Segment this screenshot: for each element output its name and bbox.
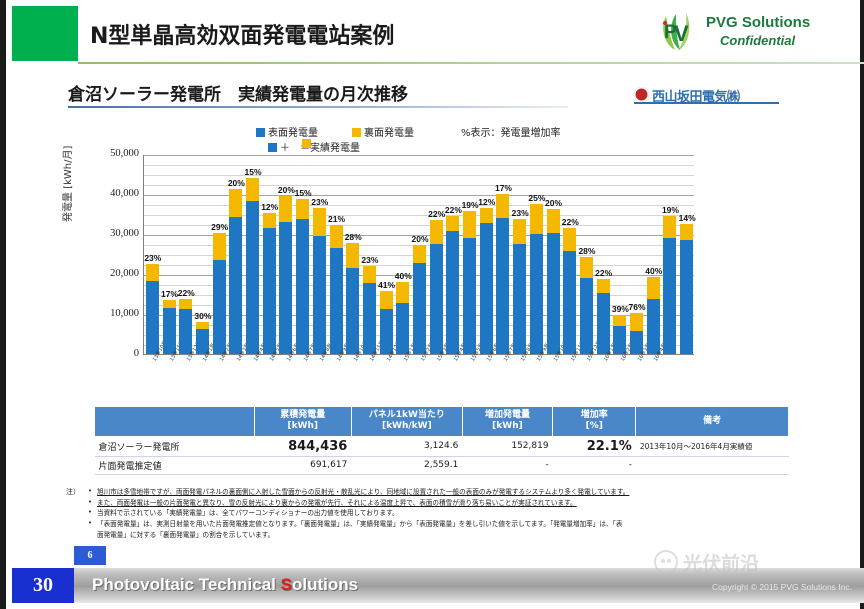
table-header-cell: 増加率[%] <box>553 407 636 437</box>
bar-segment-surface <box>563 251 576 354</box>
slide-canvas: N型単晶高効双面発電電站案例 P V PVG Solutions Confide… <box>0 0 864 609</box>
bar-segment-rear <box>279 196 292 222</box>
footer-title: Photovoltaic Technical Solutions <box>92 575 358 595</box>
table-header-line: 増加率 <box>555 410 633 421</box>
chart-plot-area: 23%13年10月17%13年11月22%13年12月30%14年1月29%14… <box>143 155 694 355</box>
table-header-cell: 備考 <box>636 407 789 437</box>
header-divider <box>78 62 864 64</box>
chart-bar: 15% <box>246 154 259 354</box>
chart-heading-divider <box>68 106 568 108</box>
page-title: N型単晶高効双面発電電站案例 <box>90 18 394 50</box>
bar-segment-surface <box>413 263 426 354</box>
bar-segment-rear <box>413 245 426 263</box>
chart-heading: 倉沼ソーラー発電所 実績発電量の月次推移 <box>68 80 408 105</box>
footnotes: 注） 旭川市は多雪地帯ですが、両面発電パネルの裏面側に入射した雪面からの反射光・… <box>66 487 826 540</box>
bar-segment-surface <box>430 244 443 354</box>
footnote-item: 面発電量」に対する「裏面発電量」の割合を示しています。 <box>88 530 826 541</box>
footnotes-label: 注） <box>66 487 80 498</box>
legend-label-surface: 表面発電量 <box>268 128 318 139</box>
monthly-generation-chart: 発電量 [kWh/月] 50,00040,00030,00020,00010,0… <box>61 150 711 395</box>
legend-pct-note: %表示：発電量増加率 <box>461 124 561 139</box>
chart-bar: 19% <box>663 154 676 354</box>
partner-name: 西山坂田電気㈱ <box>652 86 740 105</box>
bar-segment-rear <box>146 264 159 281</box>
table-header-cell: 累積発電量[kWh] <box>254 407 351 437</box>
table-cell: 片面発電推定値 <box>95 456 255 474</box>
y-axis-tick-label: 10,000 <box>87 308 139 319</box>
table-cell: 691,617 <box>254 456 351 474</box>
pvg-logo: P V PVG Solutions Confidential <box>656 8 846 60</box>
chart-bar: 76% <box>630 154 643 354</box>
chart-bar: 14% <box>680 154 693 354</box>
footer-title-prefix: Photovoltaic Technical <box>92 575 281 594</box>
bar-segment-rear <box>446 216 459 231</box>
bar-segment-surface <box>463 238 476 354</box>
bar-segment-surface <box>330 248 343 354</box>
bar-segment-rear <box>530 204 543 234</box>
table-row: 片面発電推定値691,6172,559.1-- <box>95 456 789 474</box>
legend-swatch-yellow2-wrap <box>302 139 314 150</box>
footer-title-suffix: olutions <box>292 575 358 594</box>
chart-bar: 20% <box>413 154 426 354</box>
chart-bar: 40% <box>647 154 660 354</box>
bar-segment-surface <box>597 293 610 354</box>
bar-segment-rear <box>680 224 693 240</box>
table-header-row: 累積発電量[kWh]パネル1kW当たり[kWh/kW]増加発電量[kWh]増加率… <box>95 407 789 437</box>
y-axis-title: 発電量 [kWh/月] <box>59 146 74 222</box>
table-cell: 2013年10月～2016年4月実績値 <box>636 436 789 456</box>
svg-text:V: V <box>674 21 689 46</box>
table-cell: 22.1% <box>553 436 636 456</box>
chart-bar: 39% <box>613 154 626 354</box>
table-header-cell: 増加発電量[kWh] <box>462 407 552 437</box>
bar-segment-surface <box>680 240 693 354</box>
bar-segment-surface <box>513 244 526 354</box>
bar-segment-rear <box>163 300 176 308</box>
bar-segment-rear <box>196 322 209 330</box>
bar-segment-surface <box>396 303 409 354</box>
bar-segment-rear <box>513 219 526 244</box>
footnote-item: 「表面発電量」は、実測日射量を用いた片面発電推定値となります。「裏面発電量」は、… <box>88 519 826 530</box>
bar-segment-surface <box>663 238 676 354</box>
bar-segment-surface <box>496 218 509 354</box>
chart-bar: 23% <box>146 154 159 354</box>
legend-entry-surface: 表面発電量 <box>256 124 318 139</box>
chart-bar: 20% <box>547 154 560 354</box>
bar-segment-rear <box>480 208 493 224</box>
table-body: 倉沼ソーラー発電所844,4363,124.6152,81922.1%2013年… <box>95 436 789 474</box>
header-green-block <box>12 6 78 61</box>
y-axis-tick-label: 40,000 <box>87 188 139 199</box>
table-header-line: パネル1kW当たり <box>354 410 460 421</box>
summary-table: 累積発電量[kWh]パネル1kW当たり[kWh/kW]増加発電量[kWh]増加率… <box>94 406 789 475</box>
chart-bar: 40% <box>396 154 409 354</box>
bar-segment-rear <box>613 315 626 326</box>
chart-bar: 30% <box>196 154 209 354</box>
bar-segment-surface <box>296 219 309 354</box>
bar-segment-surface <box>547 233 560 354</box>
bar-segment-rear <box>463 211 476 238</box>
legend-swatch-blue-icon <box>256 128 265 137</box>
chart-bar: 20% <box>229 154 242 354</box>
table-header-line: [kWh/kW] <box>354 421 460 432</box>
chart-bar: 25% <box>530 154 543 354</box>
bar-segment-rear <box>647 277 660 299</box>
footnote-item: また、両面発電は一般の片面発電と異なり、雪の反射光により裏からの発電が先行、それ… <box>88 498 826 509</box>
table-cell: 3,124.6 <box>351 436 462 456</box>
slide-number: 30 <box>12 568 74 603</box>
bar-segment-rear <box>213 233 226 260</box>
bar-segment-surface <box>246 201 259 354</box>
bar-segment-surface <box>263 228 276 354</box>
table-header-line: [%] <box>555 421 633 432</box>
y-axis-tick-label: 50,000 <box>87 148 139 159</box>
chart-bar: 28% <box>580 154 593 354</box>
table-header-line: 増加発電量 <box>465 410 550 421</box>
y-axis-ticks: 50,00040,00030,00020,00010,0000 <box>83 150 139 360</box>
chart-bar: 23% <box>513 154 526 354</box>
chart-bar: 15% <box>296 154 309 354</box>
table-cell: 2,559.1 <box>351 456 462 474</box>
chart-bar: 17% <box>496 154 509 354</box>
confidential-label: Confidential <box>720 33 795 48</box>
watermark-text: 光伏前沿 <box>683 549 759 576</box>
watermark: 光伏前沿 <box>654 544 844 580</box>
bar-segment-surface <box>279 222 292 354</box>
chart-bar: 20% <box>279 154 292 354</box>
legend-swatch-yellow-icon <box>352 128 361 137</box>
page-badge: 6 <box>74 546 106 565</box>
chart-bar: 41% <box>380 154 393 354</box>
bar-segment-surface <box>346 268 359 354</box>
pvg-leaf-icon: P V <box>656 10 702 54</box>
bar-segment-surface <box>229 217 242 354</box>
legend-swatch-yellow2-icon <box>302 139 311 148</box>
legend-entry-rear: 裏面発電量 <box>352 124 414 139</box>
bar-segment-surface <box>530 234 543 354</box>
footer-title-accent: S <box>281 575 292 594</box>
bar-segment-surface <box>580 278 593 354</box>
bar-segment-rear <box>179 299 192 309</box>
bar-segment-surface <box>363 283 376 354</box>
table-cell: 倉沼ソーラー発電所 <box>95 436 255 456</box>
table-header-line: [kWh] <box>465 421 550 432</box>
footnote-item: 当資料で示されている「実績発電量」は、全てパワーコンディショナーの出力値を使用し… <box>88 508 826 519</box>
footnote-item: 旭川市は多雪地帯ですが、両面発電パネルの裏面側に入射した雪面からの反射光・散乱光… <box>88 487 826 498</box>
bar-segment-rear <box>430 220 443 244</box>
bar-segment-surface <box>647 299 660 354</box>
bar-segment-rear <box>263 213 276 228</box>
bar-segment-surface <box>313 236 326 354</box>
legend-label-rear: 裏面発電量 <box>364 128 414 139</box>
chart-bar: 22% <box>597 154 610 354</box>
bar-segment-rear <box>597 279 610 292</box>
table-row: 倉沼ソーラー発電所844,4363,124.6152,81922.1%2013年… <box>95 436 789 456</box>
bar-segment-rear <box>630 313 643 331</box>
smiley-face-icon <box>654 550 678 574</box>
footnotes-list: 旭川市は多雪地帯ですが、両面発電パネルの裏面側に入射した雪面からの反射光・散乱光… <box>88 487 826 540</box>
table-cell <box>636 456 789 474</box>
bar-percent-label: 14% <box>674 213 700 223</box>
table-header-cell <box>95 407 255 437</box>
chart-bar: 23% <box>313 154 326 354</box>
chart-bar: 23% <box>363 154 376 354</box>
y-axis-tick-label: 0 <box>87 348 139 359</box>
chart-bar: 22% <box>446 154 459 354</box>
table-header-line: [kWh] <box>257 421 349 432</box>
table-cell: - <box>462 456 552 474</box>
pvg-logo-text: PVG Solutions <box>706 14 810 31</box>
table-cell: 152,819 <box>462 436 552 456</box>
table-header-line: 備考 <box>638 416 786 427</box>
copyright-text: Copyright © 2015 PVG Solutions Inc. <box>712 582 852 592</box>
chart-bar: 17% <box>163 154 176 354</box>
bar-segment-rear <box>246 178 259 201</box>
partner-logo: 西山坂田電気㈱ <box>634 86 779 104</box>
chart-bar: 21% <box>330 154 343 354</box>
chart-bar: 22% <box>430 154 443 354</box>
table-header-line: 累積発電量 <box>257 410 349 421</box>
lightning-badge-icon <box>634 87 649 102</box>
y-axis-tick-label: 30,000 <box>87 228 139 239</box>
table-cell: - <box>553 456 636 474</box>
table-cell: 844,436 <box>254 436 351 456</box>
table-header-cell: パネル1kW当たり[kWh/kW] <box>351 407 462 437</box>
bar-segment-surface <box>480 223 493 354</box>
bar-segment-surface <box>213 260 226 354</box>
bar-segment-rear <box>396 282 409 302</box>
chart-bar: 28% <box>346 154 359 354</box>
bar-segment-rear <box>380 291 393 309</box>
chart-bar: 22% <box>179 154 192 354</box>
y-axis-tick-label: 20,000 <box>87 268 139 279</box>
bar-segment-surface <box>446 231 459 354</box>
chart-bar: 19% <box>463 154 476 354</box>
bar-segment-rear <box>229 189 242 217</box>
